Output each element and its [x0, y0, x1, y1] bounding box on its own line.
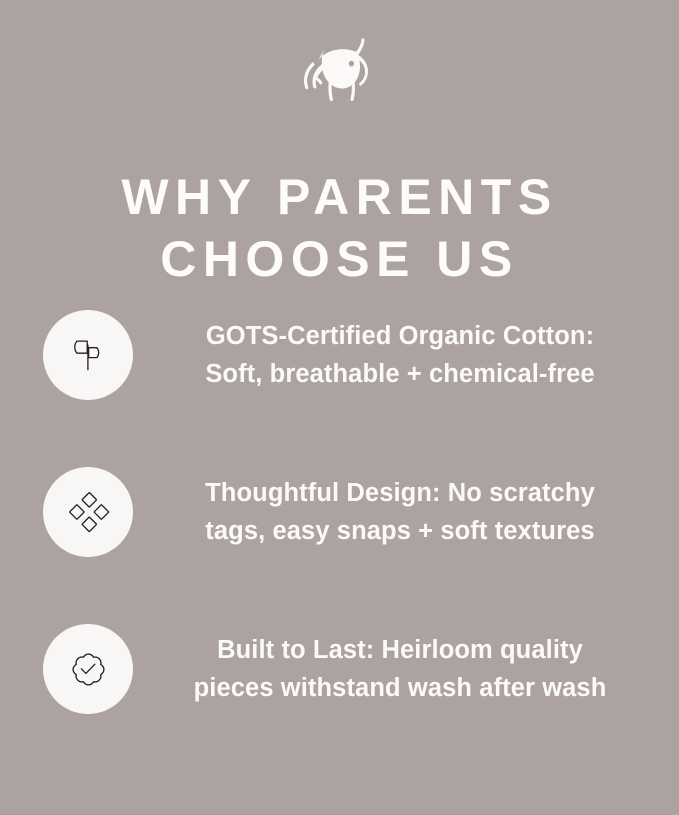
feature-text: Built to Last: Heirloom quality pieces w…	[150, 631, 650, 707]
promo-banner: WHY PARENTS CHOOSE US GOTS-Certified Org…	[0, 0, 679, 815]
feature-text: Thoughtful Design: No scratchy tags, eas…	[150, 474, 650, 550]
elephant-icon	[294, 38, 386, 110]
list-item: Built to Last: Heirloom quality pieces w…	[0, 611, 679, 768]
feature-text: GOTS-Certified Organic Cotton: Soft, bre…	[150, 317, 650, 393]
feature-icon-badge	[43, 467, 133, 557]
feature-list: GOTS-Certified Organic Cotton: Soft, bre…	[0, 297, 679, 768]
feature-icon-badge	[43, 310, 133, 400]
feature-icon-badge	[43, 624, 133, 714]
scalloped-badge-check-icon	[63, 644, 113, 694]
sprout-leaf-icon	[65, 332, 111, 378]
list-item: Thoughtful Design: No scratchy tags, eas…	[0, 454, 679, 611]
four-diamonds-icon	[65, 489, 111, 535]
brand-logo	[0, 34, 679, 114]
page-title: WHY PARENTS CHOOSE US	[0, 166, 679, 290]
list-item: GOTS-Certified Organic Cotton: Soft, bre…	[0, 297, 679, 454]
